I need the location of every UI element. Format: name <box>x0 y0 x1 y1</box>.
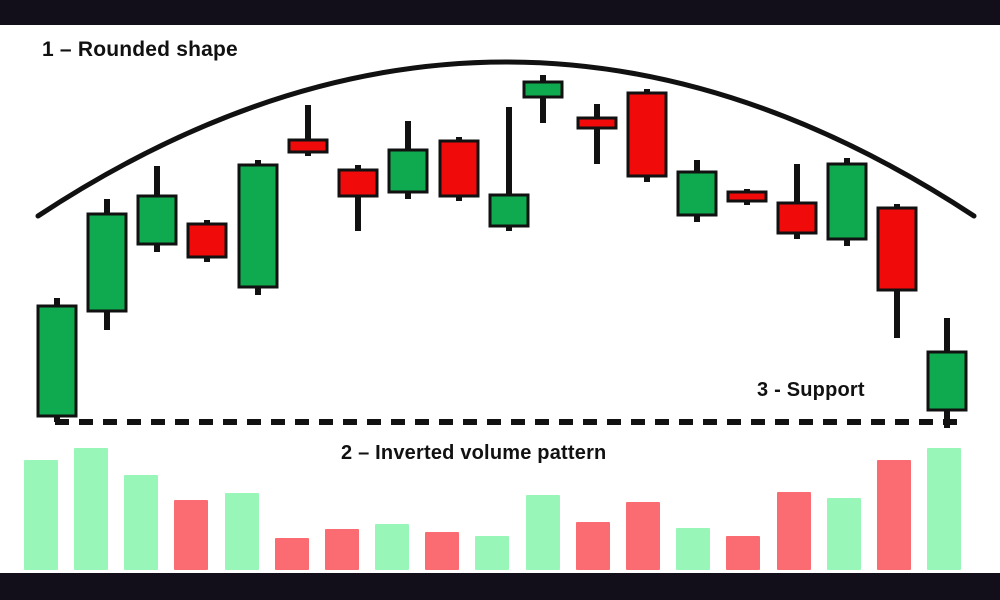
candle-body <box>339 170 377 196</box>
volume-series <box>24 448 961 570</box>
volume-bar-12 <box>626 502 660 570</box>
volume-bar-5 <box>275 538 309 570</box>
candle-body <box>490 195 528 226</box>
candlestick-14 <box>728 189 766 205</box>
candle-body <box>440 141 478 196</box>
volume-bar-1 <box>74 448 108 570</box>
candle-body <box>138 196 176 244</box>
candlestick-13 <box>678 160 716 222</box>
candlestick-4 <box>239 160 277 295</box>
volume-bar-14 <box>726 536 760 570</box>
candlestick-5 <box>289 105 327 156</box>
volume-bar-10 <box>526 495 560 570</box>
candlestick-12 <box>628 89 666 182</box>
candle-body <box>628 93 666 176</box>
candle-body <box>38 306 76 416</box>
candlestick-15 <box>778 164 816 239</box>
candlestick-6 <box>339 165 377 231</box>
volume-bar-2 <box>124 475 158 570</box>
candlestick-8 <box>440 137 478 201</box>
candlestick-chart <box>0 0 1000 600</box>
label-rounded-shape: 1 – Rounded shape <box>42 38 238 62</box>
candle-body <box>778 203 816 233</box>
candle-body <box>524 82 562 97</box>
label-volume-pattern: 2 – Inverted volume pattern <box>341 442 606 465</box>
candlestick-11 <box>578 104 616 164</box>
volume-bar-16 <box>827 498 861 570</box>
candle-body <box>239 165 277 287</box>
candle-body <box>578 118 616 128</box>
candlestick-17 <box>878 204 916 338</box>
volume-bar-4 <box>225 493 259 570</box>
candle-body <box>88 214 126 311</box>
volume-bar-13 <box>676 528 710 570</box>
candlestick-7 <box>389 121 427 199</box>
candlestick-0 <box>38 298 76 422</box>
candle-body <box>188 224 226 257</box>
candle-body <box>678 172 716 215</box>
volume-bar-9 <box>475 536 509 570</box>
candle-body <box>728 192 766 201</box>
volume-bar-3 <box>174 500 208 570</box>
chart-canvas: 1 – Rounded shape 2 – Inverted volume pa… <box>0 0 1000 600</box>
candle-body <box>878 208 916 290</box>
label-support: 3 - Support <box>757 379 865 402</box>
candle-body <box>289 140 327 152</box>
volume-bar-18 <box>927 448 961 570</box>
volume-bar-17 <box>877 460 911 570</box>
candlestick-2 <box>138 166 176 252</box>
volume-bar-7 <box>375 524 409 570</box>
volume-bar-8 <box>425 532 459 570</box>
candlestick-9 <box>490 107 528 231</box>
candlestick-series <box>38 75 966 428</box>
candlestick-1 <box>88 199 126 330</box>
candlestick-3 <box>188 220 226 262</box>
candle-body <box>828 164 866 239</box>
candle-body <box>389 150 427 192</box>
volume-bar-11 <box>576 522 610 570</box>
candlestick-10 <box>524 75 562 123</box>
volume-bar-6 <box>325 529 359 570</box>
volume-bar-0 <box>24 460 58 570</box>
volume-bar-15 <box>777 492 811 570</box>
candlestick-18 <box>928 318 966 428</box>
candlestick-16 <box>828 158 866 246</box>
candle-body <box>928 352 966 410</box>
